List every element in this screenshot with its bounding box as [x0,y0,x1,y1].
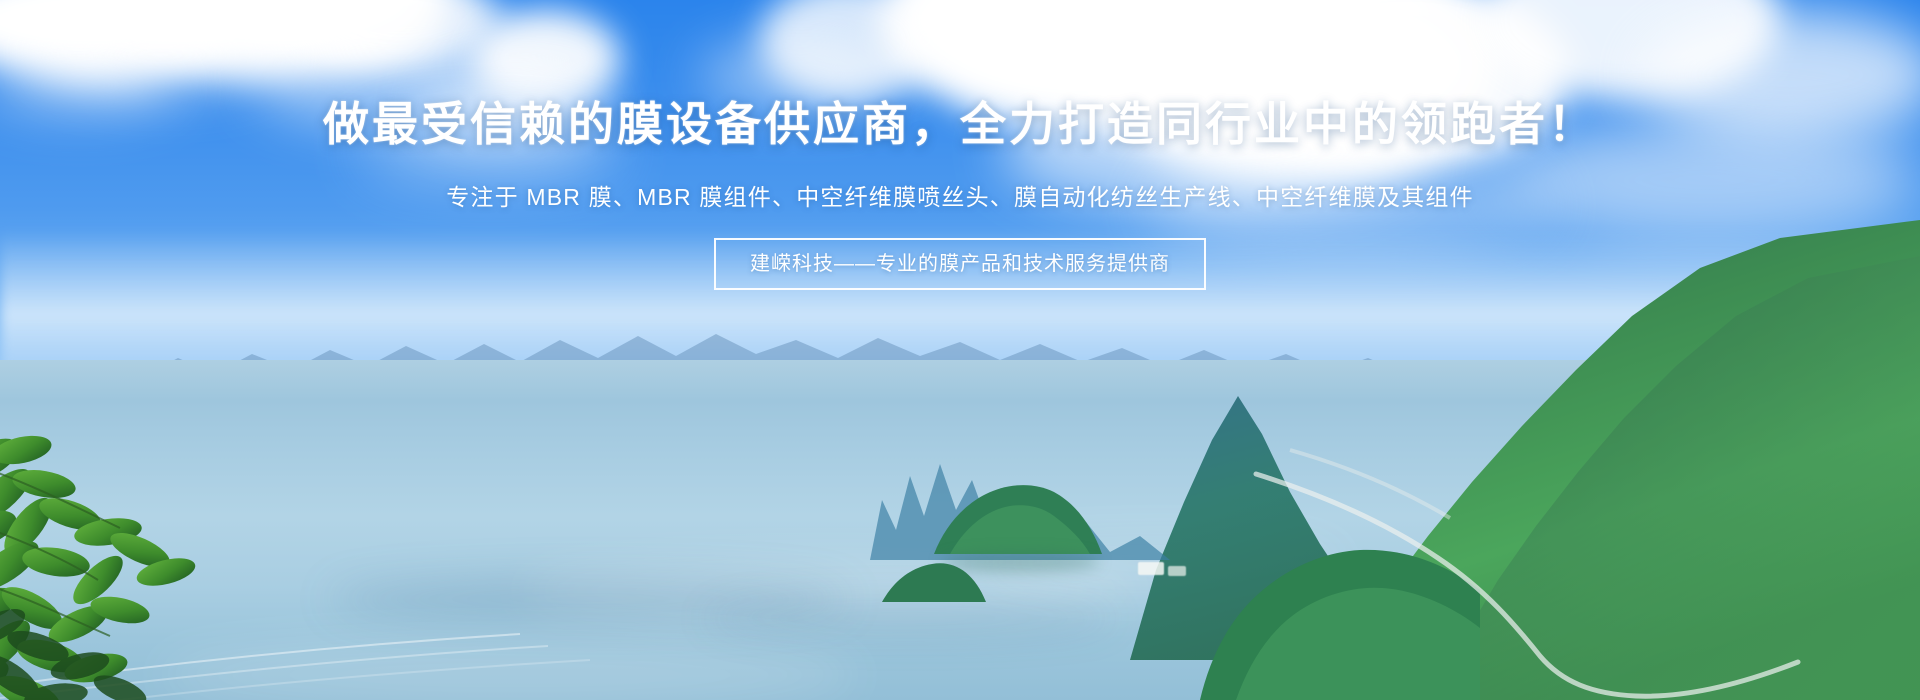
lake-island [880,558,990,604]
banner-tagline-box: 建嵘科技——专业的膜产品和技术服务提供商 [714,238,1206,290]
winding-mountain-road [1250,440,1850,700]
banner-tagline-wrapper: 建嵘科技——专业的膜产品和技术服务提供商 [0,238,1920,290]
banner-headline: 做最受信赖的膜设备供应商，全力打造同行业中的领跑者！ [0,96,1920,154]
hero-banner: 做最受信赖的膜设备供应商，全力打造同行业中的领跑者！ 专注于 MBR 膜、MBR… [0,0,1920,700]
banner-subheadline: 专注于 MBR 膜、MBR 膜组件、中空纤维膜喷丝头、膜自动化纺丝生产线、中空纤… [0,178,1920,212]
shore-building [1138,562,1164,575]
foreground-leaf-silhouettes [0,600,220,700]
banner-copy: 做最受信赖的膜设备供应商，全力打造同行业中的领跑者！ 专注于 MBR 膜、MBR… [0,0,1920,290]
shore-building [1168,566,1186,576]
